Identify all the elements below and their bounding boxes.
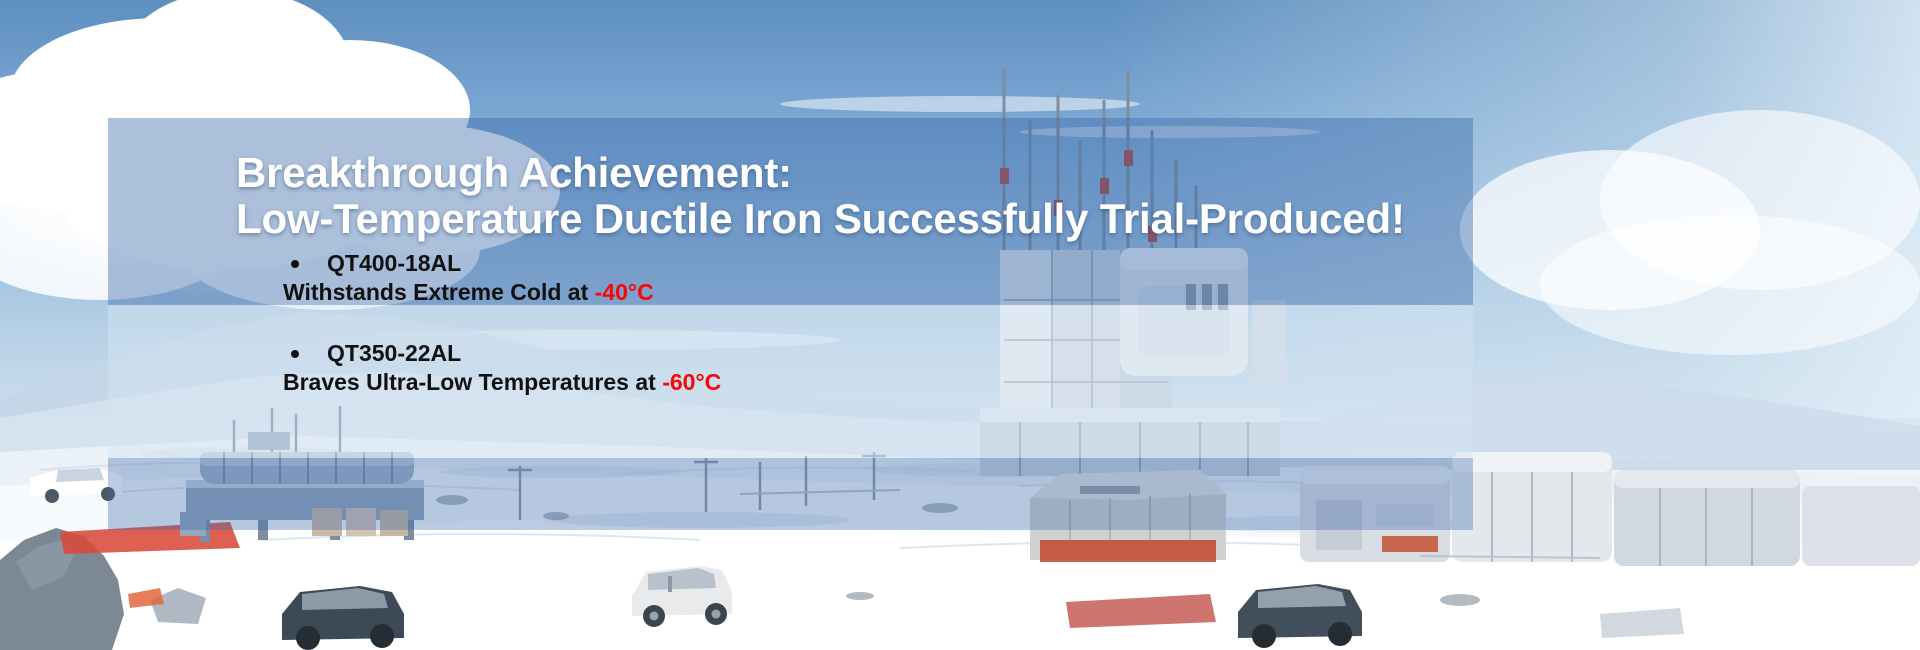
- product-grade: QT350-22AL: [327, 340, 461, 367]
- grade-row: QT350-22AL: [283, 340, 721, 367]
- list-item: QT350-22AL Braves Ultra-Low Temperatures…: [283, 340, 721, 396]
- product-grade: QT400-18AL: [327, 250, 461, 277]
- product-bullet-list: QT400-18AL Withstands Extreme Cold at -4…: [283, 250, 721, 396]
- page-title: Breakthrough Achievement: Low-Temperatur…: [236, 150, 1405, 242]
- description-prefix: Withstands Extreme Cold at: [283, 279, 595, 305]
- headline-line-1: Breakthrough Achievement:: [236, 150, 1405, 196]
- overlay-band-bottom: [108, 458, 1473, 530]
- temperature-value: -60°C: [662, 369, 721, 395]
- temperature-value: -40°C: [595, 279, 654, 305]
- list-item: QT400-18AL Withstands Extreme Cold at -4…: [283, 250, 721, 306]
- promotional-banner: Breakthrough Achievement: Low-Temperatur…: [0, 0, 1920, 650]
- bullet-dot-icon: [291, 350, 299, 358]
- product-description: Withstands Extreme Cold at -40°C: [283, 279, 721, 306]
- description-prefix: Braves Ultra-Low Temperatures at: [283, 369, 662, 395]
- text-overlay-panel: Breakthrough Achievement: Low-Temperatur…: [108, 118, 1473, 530]
- headline-line-2: Low-Temperature Ductile Iron Successfull…: [236, 196, 1405, 242]
- grade-row: QT400-18AL: [283, 250, 721, 277]
- bullet-dot-icon: [291, 260, 299, 268]
- product-description: Braves Ultra-Low Temperatures at -60°C: [283, 369, 721, 396]
